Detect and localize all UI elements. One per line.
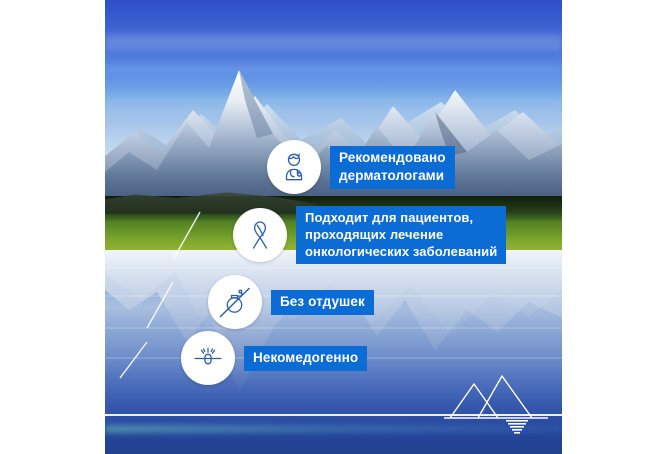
feature-label: Подходит для пациентов, проходящих лечен… <box>296 206 506 264</box>
feature-recommended[interactable]: Рекомендовано дерматологами <box>267 140 455 194</box>
feature-fragrance-free[interactable]: Без отдушек <box>208 275 374 329</box>
skin-pore-icon <box>181 331 235 385</box>
feature-label: Без отдушек <box>271 290 374 315</box>
awareness-ribbon-icon <box>233 208 287 262</box>
doctor-stethoscope-icon <box>267 140 321 194</box>
no-fragrance-bottle-icon <box>208 275 262 329</box>
feature-label: Некомедогенно <box>244 346 367 371</box>
feature-label: Рекомендовано дерматологами <box>330 146 455 189</box>
cloud-band <box>105 34 562 50</box>
feature-oncology[interactable]: Подходит для пациентов, проходящих лечен… <box>233 206 506 264</box>
feature-non-comedogenic[interactable]: Некомедогенно <box>181 331 367 385</box>
mountain-peaks-logo <box>444 374 548 436</box>
creative-banner: Рекомендовано дерматологами Подходит для… <box>105 0 562 454</box>
screenshot-root: Рекомендовано дерматологами Подходит для… <box>0 0 668 454</box>
